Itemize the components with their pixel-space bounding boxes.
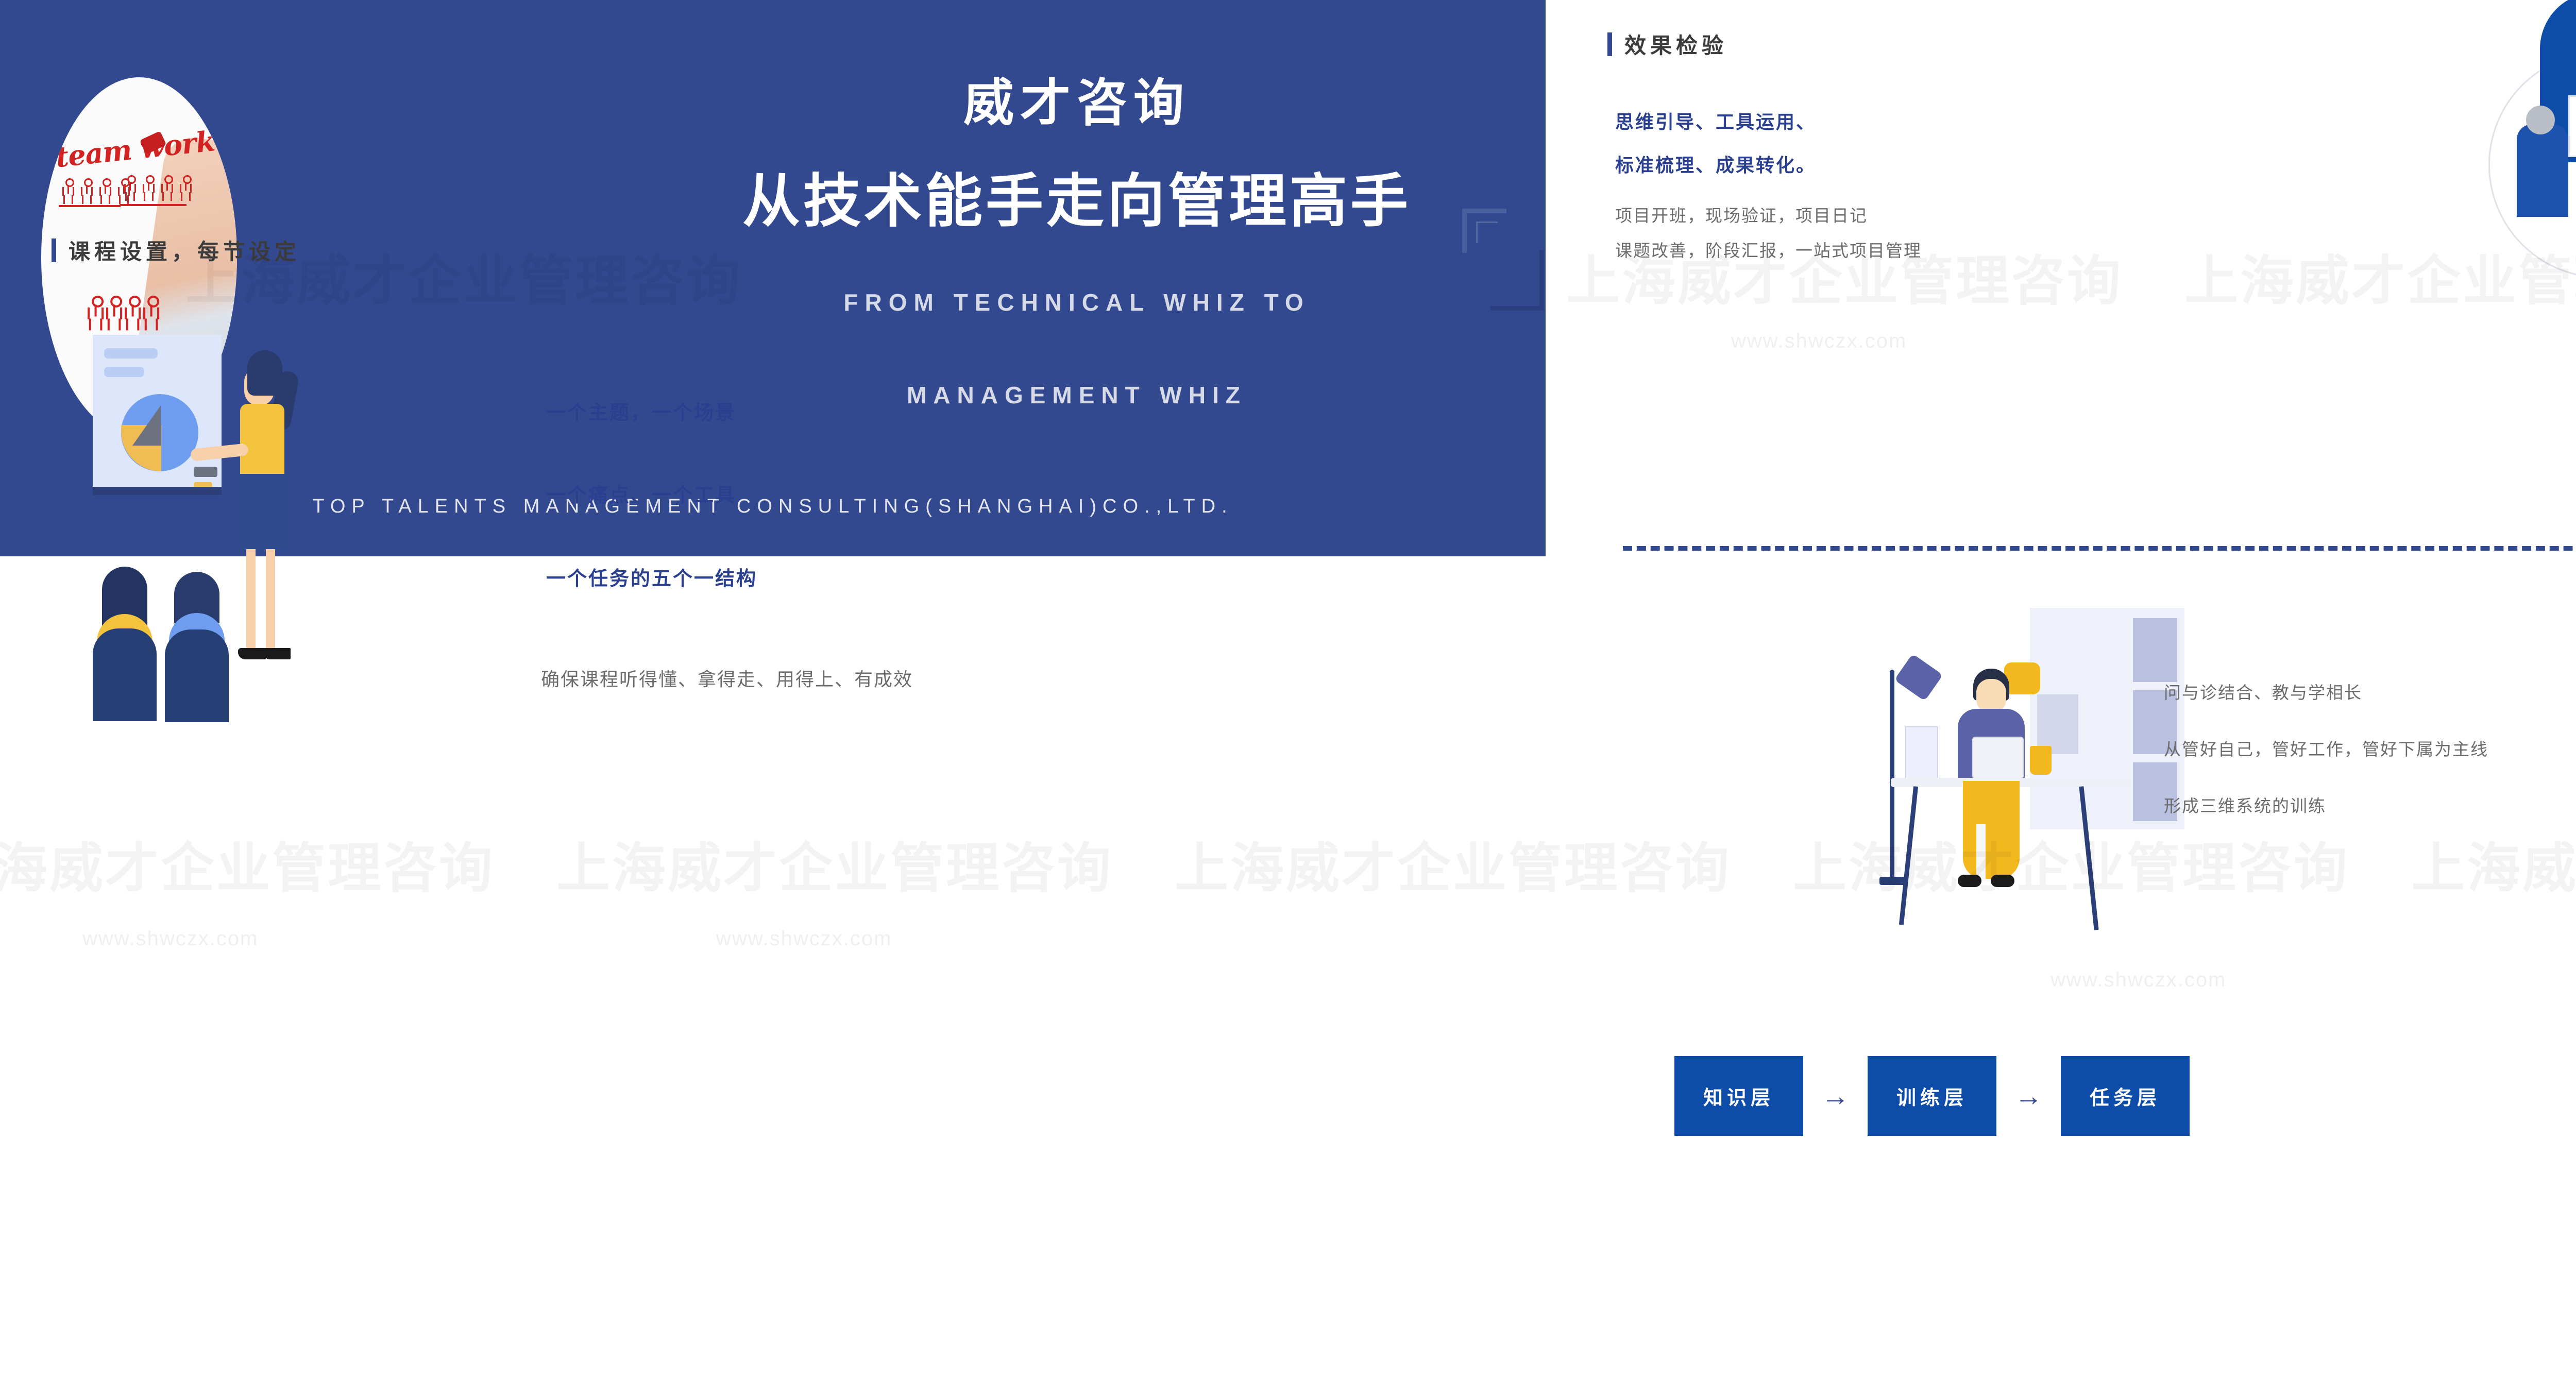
flow-step-knowledge[interactable]: 知识层 bbox=[1674, 1056, 1803, 1136]
training-line-1: 问与诊结合、教与学相长 bbox=[2164, 665, 2488, 721]
course-bullet-1: 一个主题，一个场景 bbox=[546, 397, 736, 425]
laptop-icon bbox=[1972, 737, 2024, 779]
flow-step-task[interactable]: 任务层 bbox=[2061, 1056, 2190, 1136]
flow-arrow-icon-1: → bbox=[1803, 1082, 1868, 1110]
course-footnote: 确保课程听得懂、拿得走、用得上、有成效 bbox=[541, 665, 913, 691]
stick-figure-row-3 bbox=[86, 304, 156, 328]
section-divider-dashed bbox=[1623, 546, 2576, 551]
effect-detail-line-1: 项目开班，现场验证，项目日记 bbox=[1615, 198, 1922, 233]
course-section-heading: 课程设置，每节设定 bbox=[52, 234, 300, 266]
hero-subtitle: 从技术能手走向管理高手 bbox=[639, 155, 1515, 238]
stick-figure-row-1 bbox=[61, 178, 131, 202]
training-line-3: 形成三维系统的训练 bbox=[2164, 778, 2488, 835]
effect-highlight-line-2: 标准梳理、成果转化。 bbox=[1615, 144, 1816, 187]
hero-title: 威才咨询 bbox=[654, 62, 1499, 135]
bar-chart-icon bbox=[2568, 95, 2576, 157]
hero-english-line-2: MANAGEMENT WHIZ bbox=[639, 381, 1515, 409]
course-bullet-2: 一个痛点、一个工具 bbox=[546, 479, 736, 507]
corner-bracket-small-icon bbox=[1476, 222, 1498, 243]
stick-figure-row-2 bbox=[123, 175, 193, 199]
left-column: team work 威才咨询 从技术能手走向管理高手 bbox=[0, 0, 1546, 1227]
training-flow-diagram: 知识层 → 训练层 → 任务层 bbox=[1674, 1056, 2190, 1136]
people-presenting-figure bbox=[2517, 95, 2576, 265]
training-line-2: 从管好自己，管好工作，管好下属为主线 bbox=[2164, 721, 2488, 778]
training-text-block: 问与诊结合、教与学相长 从管好自己，管好工作，管好下属为主线 形成三维系统的训练 bbox=[2164, 665, 2488, 835]
middle-column: 效果检验 思维引导、工具运用、 标准梳理、成果转化。 项目开班，现场验证，项目日… bbox=[1546, 0, 2576, 1227]
flow-step-training[interactable]: 训练层 bbox=[1868, 1056, 1996, 1136]
idea-bubble-icon bbox=[2004, 662, 2040, 694]
paper-stack bbox=[1905, 726, 1938, 780]
heading-accent-bar bbox=[52, 239, 56, 262]
analytics-illustration bbox=[2421, 0, 2576, 345]
coffee-cup-icon bbox=[2030, 746, 2052, 775]
effect-detail-line-2: 课题改善，阶段汇报，一站式项目管理 bbox=[1615, 233, 1922, 268]
effect-highlight-block: 思维引导、工具运用、 标准梳理、成果转化。 bbox=[1615, 100, 1816, 187]
hero-english-line-1: FROM TECHNICAL WHIZ TO bbox=[639, 288, 1515, 316]
presenter-figure bbox=[221, 350, 329, 680]
poster-canvas: team work 威才咨询 从技术能手走向管理高手 bbox=[0, 0, 2576, 1227]
effect-highlight-line-1: 思维引导、工具运用、 bbox=[1615, 100, 1816, 144]
course-illustration bbox=[72, 330, 464, 690]
effect-section-heading: 效果检验 bbox=[1607, 28, 1727, 60]
pie-chart-icon bbox=[121, 394, 198, 471]
course-bullet-3: 一个任务的五个一结构 bbox=[546, 563, 757, 591]
effect-detail-block: 项目开班，现场验证，项目日记 课题改善，阶段汇报，一站式项目管理 bbox=[1615, 198, 1922, 268]
lamp-icon bbox=[1890, 670, 1894, 881]
course-section-title: 课程设置，每节设定 bbox=[69, 234, 300, 266]
effect-section-title: 效果检验 bbox=[1624, 28, 1727, 60]
corner-bracket-bottom-icon bbox=[1490, 250, 1544, 311]
heading-accent-bar bbox=[1607, 32, 1612, 56]
flow-arrow-icon-2: → bbox=[1996, 1082, 2061, 1110]
bookshelf bbox=[2030, 608, 2184, 829]
